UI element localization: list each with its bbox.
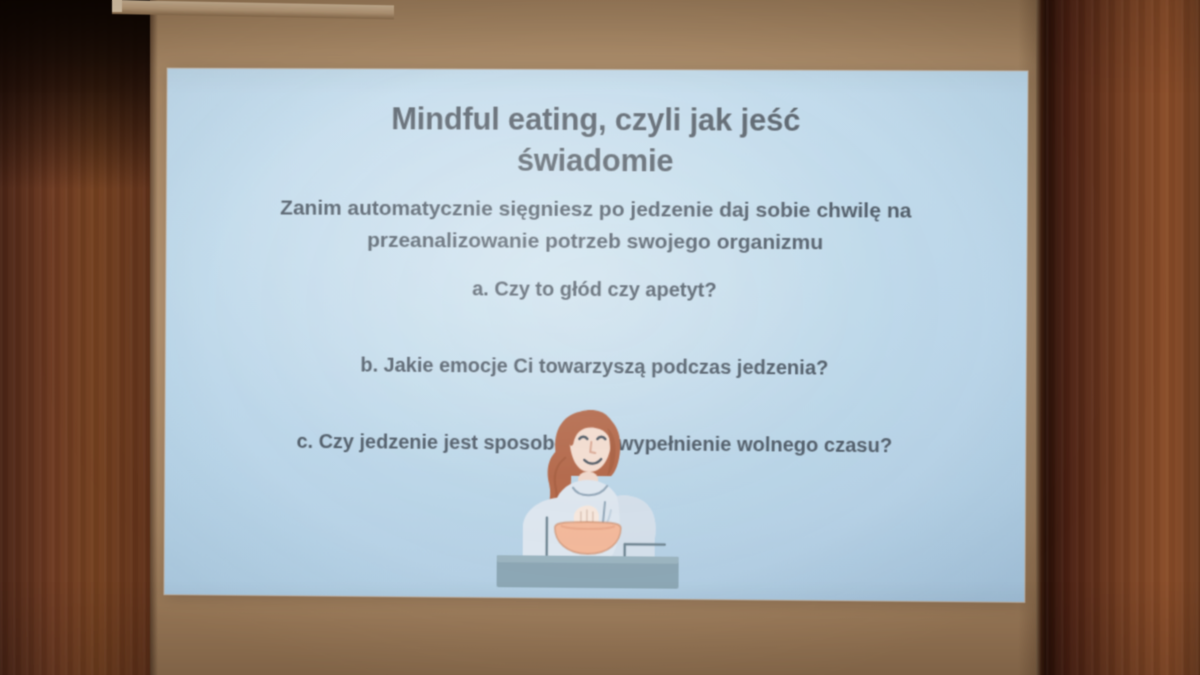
- wall-shadow-left: [0, 0, 156, 190]
- slide-title: Mindful eating, czyli jak jeść świadomie: [167, 98, 1027, 183]
- projected-slide: Mindful eating, czyli jak jeść świadomie…: [164, 69, 1027, 602]
- slide-canvas: Mindful eating, czyli jak jeść świadomie…: [164, 69, 1027, 602]
- question-item-b: b. Jakie emocje Ci towarzyszą podczas je…: [196, 350, 996, 383]
- slide-title-line-2: świadomie: [167, 139, 1027, 184]
- screen-edge-left: [150, 0, 158, 675]
- slide-subtitle-line-2: przeanalizowanie potrzeb swojego organiz…: [218, 224, 974, 260]
- slide-subtitle-line-1: Zanim automatycznie sięgniesz po jedzeni…: [218, 192, 974, 228]
- woman-eating-bowl-icon: [483, 405, 694, 593]
- slide-title-line-1: Mindful eating, czyli jak jeść: [167, 98, 1027, 142]
- photo-scene: Mindful eating, czyli jak jeść świadomie…: [0, 0, 1200, 675]
- slide-subtitle: Zanim automatycznie sięgniesz po jedzeni…: [218, 192, 974, 260]
- screen-rail-cap: [112, 0, 122, 12]
- slide-content: Mindful eating, czyli jak jeść świadomie…: [164, 69, 1027, 602]
- question-item-a: a. Czy to głód czy apetyt?: [196, 274, 996, 307]
- wooden-wall-right: [1046, 0, 1200, 675]
